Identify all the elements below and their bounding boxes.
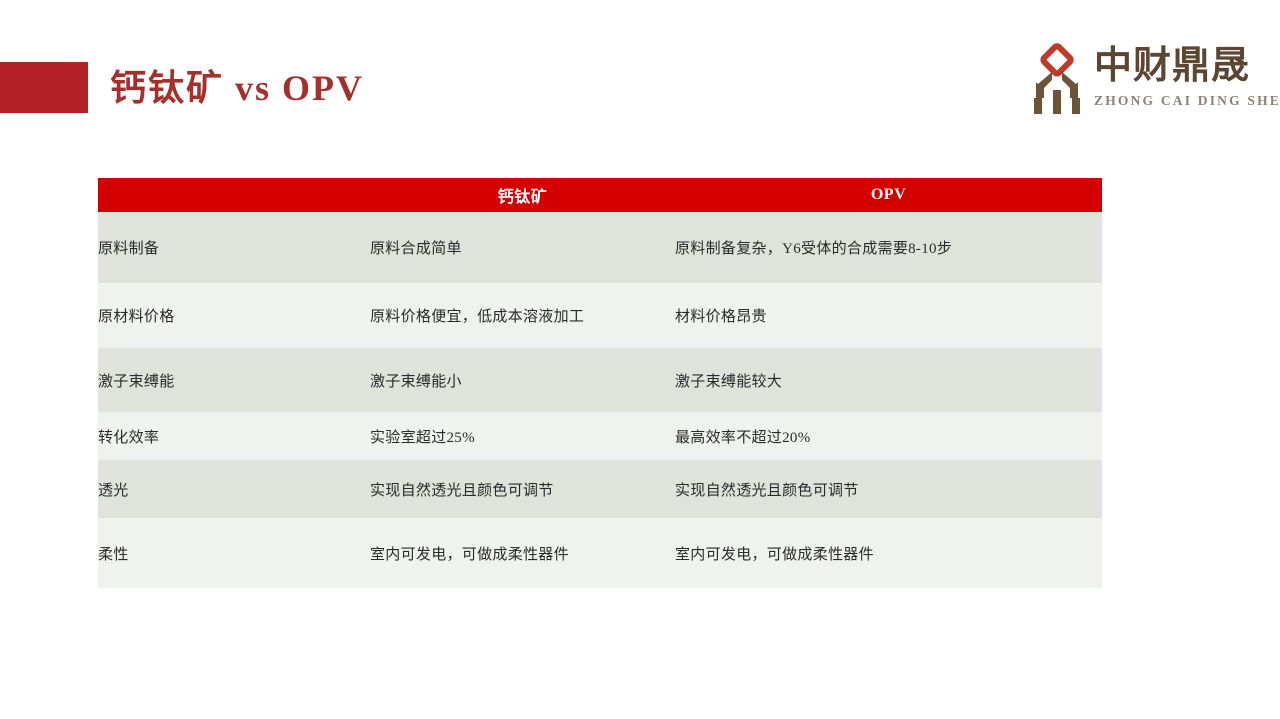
row-label: 原材料价格 (98, 283, 370, 348)
table-row: 激子束缚能 激子束缚能小 激子束缚能较大 (98, 348, 1102, 412)
table-header: 钙钛矿 OPV (98, 178, 1102, 212)
row-value-perovskite: 实现自然透光且颜色可调节 (370, 460, 675, 518)
table-row: 转化效率 实验室超过25% 最高效率不超过20% (98, 412, 1102, 460)
row-value-opv: 材料价格昂贵 (675, 283, 1102, 348)
title-accent-bar (0, 62, 88, 113)
logo-mark-icon (1026, 42, 1088, 116)
row-value-perovskite: 激子束缚能小 (370, 348, 675, 412)
page-title: 钙钛矿 vs OPV (110, 60, 710, 116)
row-value-opv: 最高效率不超过20% (675, 412, 1102, 460)
row-label: 原料制备 (98, 212, 370, 283)
logo-pinyin-name: ZHONG CAI DING SHENG (1094, 92, 1274, 110)
header-cell-blank (98, 178, 370, 212)
logo-text-block: 中财鼎晟 ZHONG CAI DING SHENG (1094, 40, 1274, 110)
row-value-opv: 激子束缚能较大 (675, 348, 1102, 412)
row-value-perovskite: 原料价格便宜，低成本溶液加工 (370, 283, 675, 348)
table-body: 原料制备 原料合成简单 原料制备复杂，Y6受体的合成需要8-10步 原材料价格 … (98, 212, 1102, 588)
row-value-opv: 原料制备复杂，Y6受体的合成需要8-10步 (675, 212, 1102, 283)
row-label: 激子束缚能 (98, 348, 370, 412)
row-value-perovskite: 原料合成简单 (370, 212, 675, 283)
row-value-perovskite: 实验室超过25% (370, 412, 675, 460)
row-label: 透光 (98, 460, 370, 518)
row-value-opv: 室内可发电，可做成柔性器件 (675, 518, 1102, 588)
header-cell-perovskite: 钙钛矿 (370, 178, 675, 212)
row-value-perovskite: 室内可发电，可做成柔性器件 (370, 518, 675, 588)
table-row: 原料制备 原料合成简单 原料制备复杂，Y6受体的合成需要8-10步 (98, 212, 1102, 283)
table-row: 透光 实现自然透光且颜色可调节 实现自然透光且颜色可调节 (98, 460, 1102, 518)
comparison-table: 钙钛矿 OPV 原料制备 原料合成简单 原料制备复杂，Y6受体的合成需要8-10… (98, 178, 1102, 588)
row-label: 柔性 (98, 518, 370, 588)
table-row: 原材料价格 原料价格便宜，低成本溶液加工 材料价格昂贵 (98, 283, 1102, 348)
header-cell-opv: OPV (675, 178, 1102, 212)
logo-chinese-name: 中财鼎晟 (1094, 40, 1274, 92)
company-logo: 中财鼎晟 ZHONG CAI DING SHENG (1026, 40, 1246, 120)
row-value-opv: 实现自然透光且颜色可调节 (675, 460, 1102, 518)
table-row: 柔性 室内可发电，可做成柔性器件 室内可发电，可做成柔性器件 (98, 518, 1102, 588)
row-label: 转化效率 (98, 412, 370, 460)
table-header-row: 钙钛矿 OPV (98, 178, 1102, 212)
